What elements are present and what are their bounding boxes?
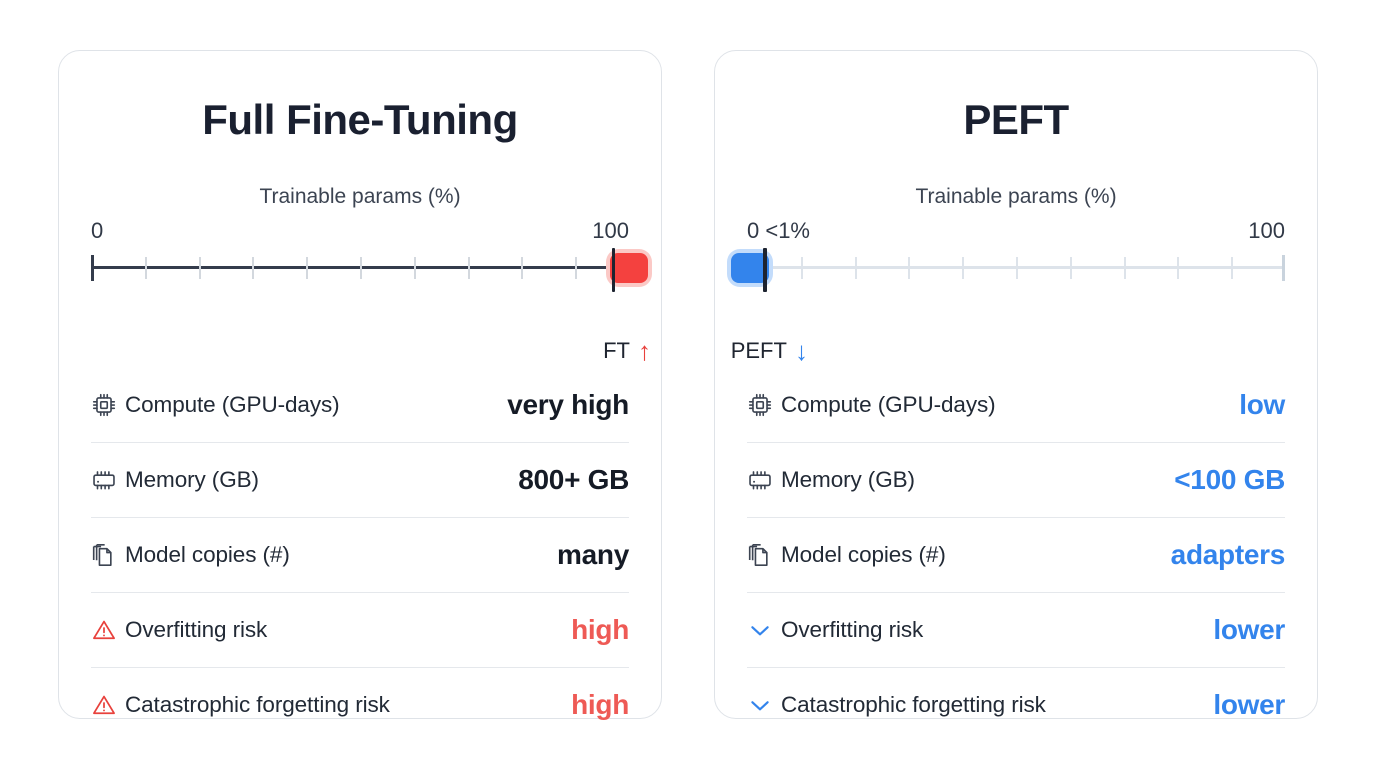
arrow-down-icon: ↓ bbox=[795, 338, 808, 364]
metric-value: high bbox=[571, 614, 629, 646]
slider-tick bbox=[145, 257, 147, 279]
slider-scale-left: 0 100 bbox=[91, 218, 629, 248]
slider-tick bbox=[1016, 257, 1018, 279]
slider-tick bbox=[908, 257, 910, 279]
cpu-chip-icon bbox=[747, 392, 781, 418]
metric-value: 800+ GB bbox=[518, 464, 629, 496]
slider-tick bbox=[306, 257, 308, 279]
slider-tick bbox=[360, 257, 362, 279]
table-row: Memory (GB) <100 GB bbox=[747, 443, 1285, 518]
slider-thumb-needle bbox=[612, 248, 615, 292]
table-row: Memory (GB) 800+ GB bbox=[91, 443, 629, 518]
slider-tick bbox=[1070, 257, 1072, 279]
slider-tick bbox=[1231, 257, 1233, 279]
metric-label: Compute (GPU-days) bbox=[125, 392, 507, 418]
card-full-fine-tuning: Full Fine-Tuning Trainable params (%) 0 … bbox=[58, 50, 662, 719]
slider-thumb[interactable] bbox=[610, 253, 648, 283]
slider-tick bbox=[1177, 257, 1179, 279]
metrics-list-left: Compute (GPU-days) very high Memory (GB)… bbox=[91, 368, 629, 742]
slider-tick bbox=[801, 257, 803, 279]
slider-min-label-left: 0 bbox=[91, 218, 103, 244]
table-row: Model copies (#) adapters bbox=[747, 518, 1285, 593]
table-row: Overfitting risk high bbox=[91, 593, 629, 668]
metric-value: <100 GB bbox=[1174, 464, 1285, 496]
slider-tick bbox=[575, 257, 577, 279]
table-row: Catastrophic forgetting risk high bbox=[91, 668, 629, 742]
metrics-list-right: Compute (GPU-days) low Memory (GB) <100 … bbox=[747, 368, 1285, 742]
slider-tick bbox=[414, 257, 416, 279]
slider-endcap-start-left bbox=[91, 255, 94, 281]
slider-tick bbox=[468, 257, 470, 279]
metric-value: very high bbox=[507, 389, 629, 421]
memory-chip-icon bbox=[747, 467, 781, 493]
slider-block-right: Trainable params (%) 0 <1% 100 PEFT ↓ bbox=[747, 185, 1285, 332]
metric-label: Compute (GPU-days) bbox=[781, 392, 1239, 418]
page-title-left: Full Fine-Tuning bbox=[91, 99, 629, 141]
comparison-board: Full Fine-Tuning Trainable params (%) 0 … bbox=[0, 0, 1376, 768]
table-row: Overfitting risk lower bbox=[747, 593, 1285, 668]
page-title-right: PEFT bbox=[747, 99, 1285, 141]
slider-min-label-right: 0 <1% bbox=[747, 218, 810, 244]
slider-tick bbox=[199, 257, 201, 279]
metric-value: lower bbox=[1213, 689, 1285, 721]
metric-label: Memory (GB) bbox=[125, 467, 518, 493]
slider-thumb-needle bbox=[763, 248, 766, 292]
slider-thumb-body bbox=[610, 253, 648, 283]
slider-thumb[interactable] bbox=[731, 253, 769, 283]
slider-caption-right: Trainable params (%) bbox=[747, 185, 1285, 209]
metric-value: high bbox=[571, 689, 629, 721]
slider-tick bbox=[521, 257, 523, 279]
metric-value: many bbox=[557, 539, 629, 571]
slider-tick bbox=[1124, 257, 1126, 279]
metric-label: Memory (GB) bbox=[781, 467, 1174, 493]
metric-value: low bbox=[1239, 389, 1285, 421]
copy-documents-icon bbox=[747, 542, 781, 568]
slider-track-left[interactable] bbox=[91, 248, 629, 292]
slider-tick bbox=[962, 257, 964, 279]
slider-max-label-left: 100 bbox=[592, 218, 629, 244]
warning-triangle-icon bbox=[91, 617, 125, 643]
warning-triangle-icon bbox=[91, 692, 125, 718]
slider-scale-right: 0 <1% 100 bbox=[747, 218, 1285, 248]
metric-label: Catastrophic forgetting risk bbox=[125, 692, 571, 718]
copy-documents-icon bbox=[91, 542, 125, 568]
metric-label: Model copies (#) bbox=[125, 542, 557, 568]
slider-max-label-right: 100 bbox=[1248, 218, 1285, 244]
slider-endcap-end-right bbox=[1282, 255, 1285, 281]
metric-label: Overfitting risk bbox=[781, 617, 1213, 643]
table-row: Compute (GPU-days) very high bbox=[91, 368, 629, 443]
slider-block-left: Trainable params (%) 0 100 FT ↑ bbox=[91, 185, 629, 332]
slider-thumb-text-left: FT bbox=[603, 338, 630, 364]
memory-chip-icon bbox=[91, 467, 125, 493]
slider-tick bbox=[252, 257, 254, 279]
card-peft: PEFT Trainable params (%) 0 <1% 100 PEFT… bbox=[714, 50, 1318, 719]
slider-thumb-label-right: PEFT ↓ bbox=[731, 338, 808, 364]
metric-label: Catastrophic forgetting risk bbox=[781, 692, 1213, 718]
slider-caption-left: Trainable params (%) bbox=[91, 185, 629, 209]
table-row: Model copies (#) many bbox=[91, 518, 629, 593]
chevron-down-icon bbox=[747, 617, 781, 643]
slider-track-right[interactable] bbox=[747, 248, 1285, 292]
slider-thumb-label-left: FT ↑ bbox=[603, 338, 651, 364]
chevron-down-icon bbox=[747, 692, 781, 718]
table-row: Catastrophic forgetting risk lower bbox=[747, 668, 1285, 742]
cpu-chip-icon bbox=[91, 392, 125, 418]
table-row: Compute (GPU-days) low bbox=[747, 368, 1285, 443]
metric-label: Overfitting risk bbox=[125, 617, 571, 643]
metric-label: Model copies (#) bbox=[781, 542, 1171, 568]
slider-thumb-text-right: PEFT bbox=[731, 338, 787, 364]
metric-value: lower bbox=[1213, 614, 1285, 646]
metric-value: adapters bbox=[1171, 539, 1285, 571]
slider-tick bbox=[855, 257, 857, 279]
arrow-up-icon: ↑ bbox=[638, 338, 651, 364]
